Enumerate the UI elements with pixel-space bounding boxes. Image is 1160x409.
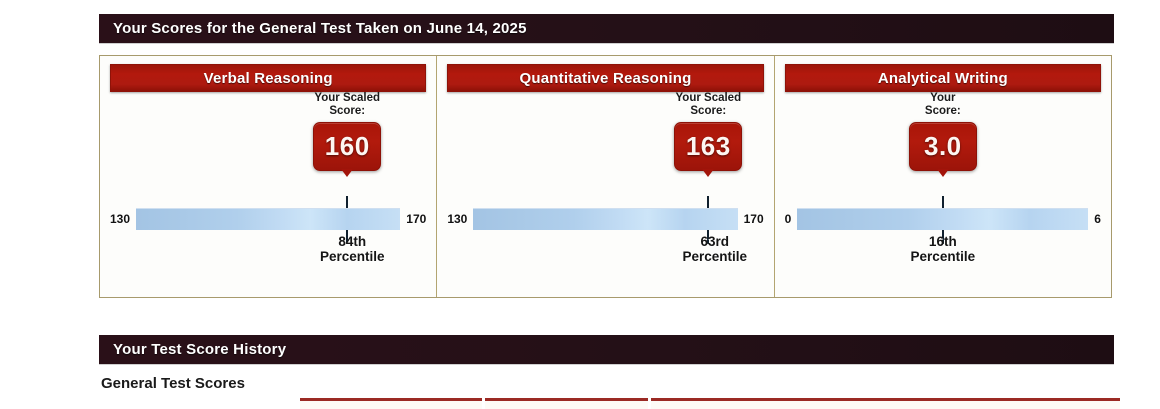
general-test-scores-subtitle: General Test Scores [101,375,245,392]
scale-min-label: 0 [785,212,792,226]
score-caption-line1: Your Scaled [674,92,742,105]
score-scale-row-verbal: 130 170 [110,206,426,232]
panel-title-bar-verbal: Verbal Reasoning [110,64,426,92]
percentile-rank: 84th [320,234,385,249]
percentile-rank: 63rd [683,234,748,249]
scale-max-label: 170 [406,212,426,226]
scale-max-label: 6 [1094,212,1101,226]
history-section-title: Your Test Score History [99,341,286,358]
panel-title-label: Analytical Writing [878,70,1008,87]
score-scale-bar [136,208,400,230]
percentile-word: Percentile [320,249,385,264]
scale-min-label: 130 [110,212,130,226]
score-scale-row-analytical: 0 6 [785,206,1101,232]
score-caption-line2: Score: [909,105,977,118]
scale-min-label: 130 [447,212,467,226]
score-caption-line2: Score: [313,105,381,118]
percentile-word: Percentile [683,249,748,264]
panel-title-label: Quantitative Reasoning [520,70,692,87]
history-table-column-1 [300,398,482,409]
score-scale-bar [473,208,737,230]
percentile-block-quantitative: 63rd Percentile [683,234,748,264]
percentile-word: Percentile [911,249,976,264]
history-section-header: Your Test Score History [99,335,1114,364]
panel-title-bar-analytical: Analytical Writing [785,64,1101,92]
percentile-block-verbal: 84th Percentile [320,234,385,264]
scaled-score-badge: 3.0 [909,122,977,171]
scaled-score-value: 160 [325,131,370,162]
scores-section-title: Your Scores for the General Test Taken o… [99,20,527,37]
score-caption-line1: Your [909,92,977,105]
history-table-column-2 [485,398,648,409]
scaled-score-badge: 163 [674,122,742,171]
score-caption-line1: Your Scaled [313,92,381,105]
score-caption-line2: Score: [674,105,742,118]
panel-title-label: Verbal Reasoning [204,70,333,87]
score-panels-card: Verbal Reasoning Your Scaled Score: 160 … [99,55,1112,298]
panel-title-bar-quantitative: Quantitative Reasoning [447,64,763,92]
scores-section-header: Your Scores for the General Test Taken o… [99,14,1114,43]
percentile-block-analytical: 16th Percentile [911,234,976,264]
scaled-score-badge: 160 [313,122,381,171]
score-scale-row-quantitative: 130 170 [447,206,763,232]
scale-max-label: 170 [744,212,764,226]
percentile-rank: 16th [911,234,976,249]
scaled-score-value: 3.0 [924,131,962,162]
score-scale-bar [797,208,1088,230]
score-panel-quantitative-reasoning: Quantitative Reasoning Your Scaled Score… [436,56,773,297]
history-table-header-edge [300,398,1120,406]
score-panel-analytical-writing: Analytical Writing Your Score: 3.0 0 6 1… [774,56,1111,297]
scaled-score-value: 163 [686,131,731,162]
history-table-column-3 [651,398,1120,409]
score-panel-verbal-reasoning: Verbal Reasoning Your Scaled Score: 160 … [100,56,436,297]
